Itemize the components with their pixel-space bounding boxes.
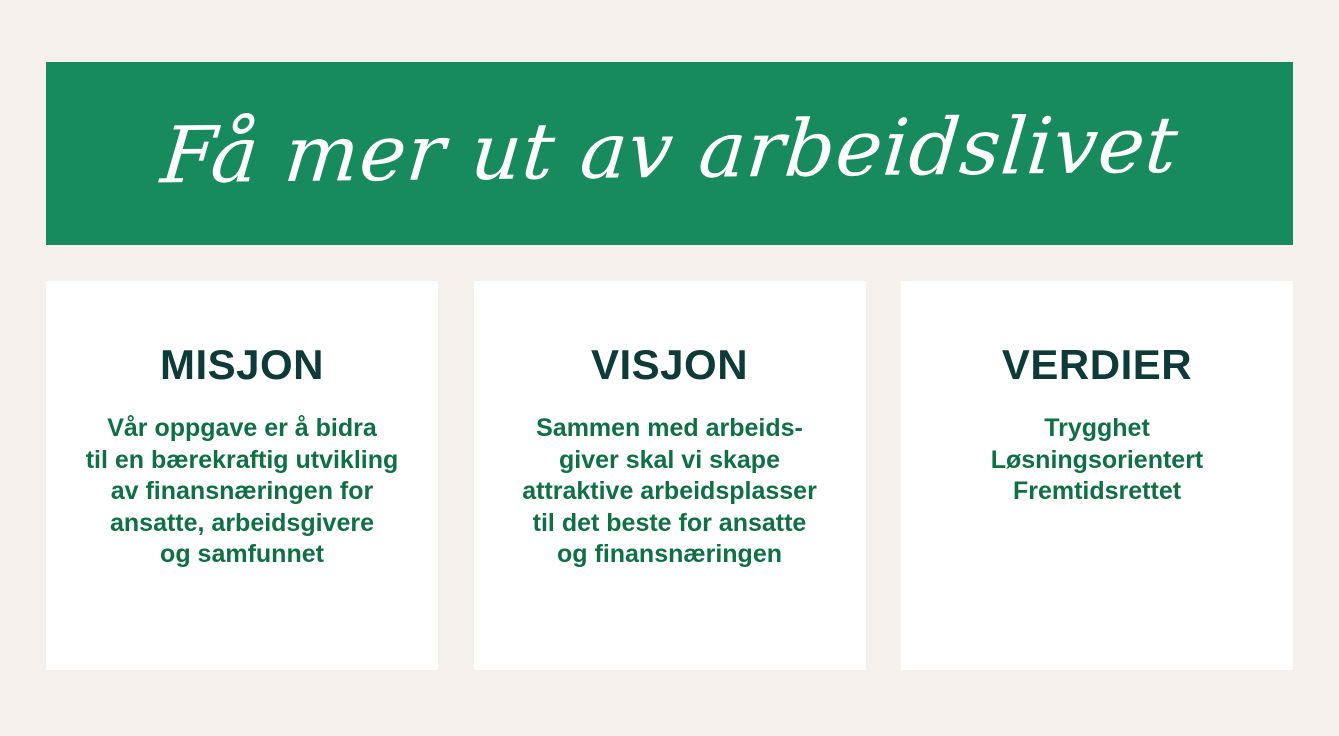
card-misjon: MISJON Vår oppgave er å bidra til en bær… (46, 281, 438, 670)
card-title-misjon: MISJON (60, 343, 424, 387)
card-body-line: Fremtidsrettet (915, 476, 1279, 508)
card-body-verdier: Trygghet Løsningsorientert Fremtidsrette… (915, 413, 1279, 508)
card-title-visjon: VISJON (488, 343, 852, 387)
header-banner: Få mer ut av arbeidslivet (46, 62, 1293, 245)
card-body-line: av finansnæringen for (60, 476, 424, 508)
card-body-line: til en bærekraftig utvikling (60, 445, 424, 477)
card-body-line: og finansnæringen (488, 539, 852, 571)
card-body-line: Løsningsorientert (915, 445, 1279, 477)
card-body-line: attraktive arbeidsplasser (488, 476, 852, 508)
card-body-line: ansatte, arbeidsgivere (60, 508, 424, 540)
card-verdier: VERDIER Trygghet Løsningsorientert Fremt… (901, 281, 1293, 670)
banner-title: Få mer ut av arbeidslivet (157, 106, 1181, 201)
card-visjon: VISJON Sammen med arbeids- giver skal vi… (474, 281, 866, 670)
card-body-line: giver skal vi skape (488, 445, 852, 477)
card-title-verdier: VERDIER (915, 343, 1279, 387)
cards-row: MISJON Vår oppgave er å bidra til en bær… (46, 281, 1293, 670)
card-body-line: og samfunnet (60, 539, 424, 571)
card-body-visjon: Sammen med arbeids- giver skal vi skape … (488, 413, 852, 571)
card-body-line: Sammen med arbeids- (488, 413, 852, 445)
card-body-line: Vår oppgave er å bidra (60, 413, 424, 445)
card-body-line: Trygghet (915, 413, 1279, 445)
card-body-line: til det beste for ansatte (488, 508, 852, 540)
card-body-misjon: Vår oppgave er å bidra til en bærekrafti… (60, 413, 424, 571)
slide-root: Få mer ut av arbeidslivet MISJON Vår opp… (0, 0, 1339, 736)
